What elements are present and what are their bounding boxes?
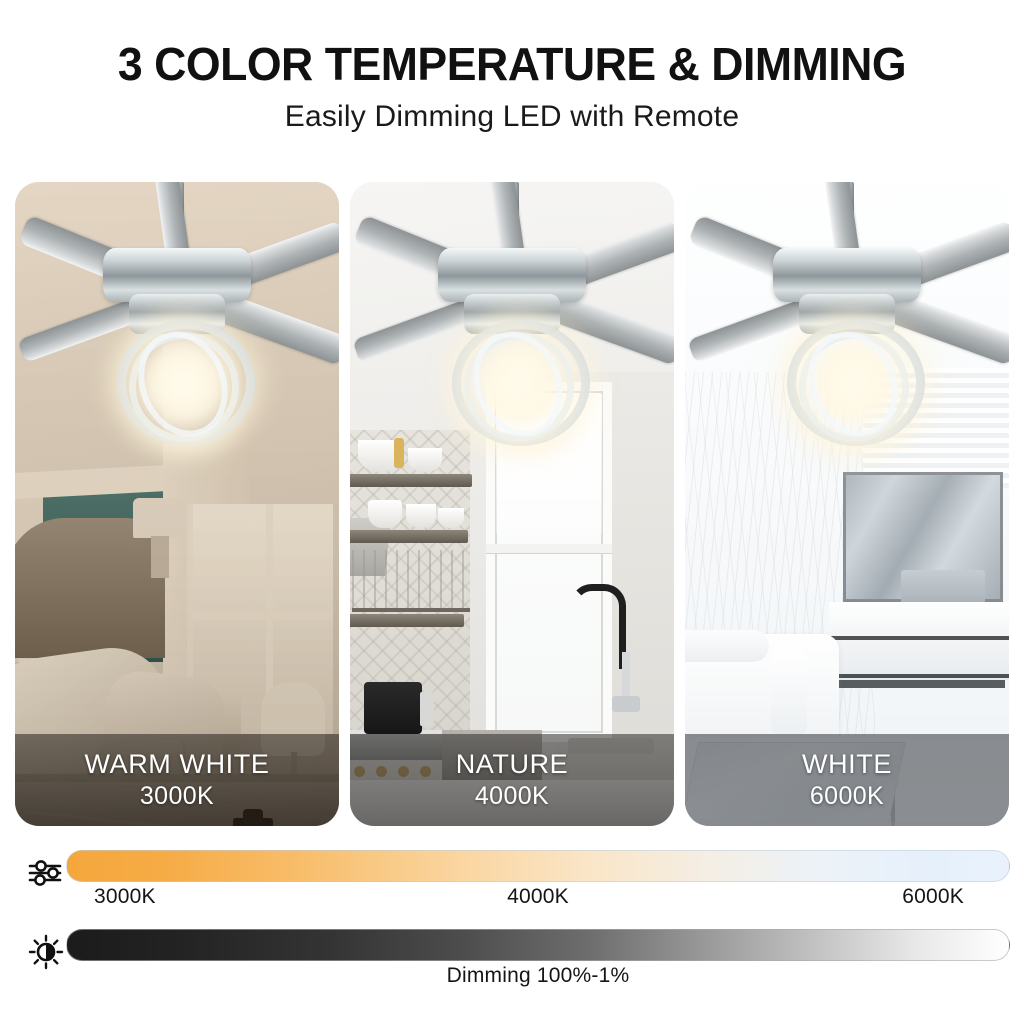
brightness-icon (26, 932, 66, 972)
label-name: WARM WHITE (85, 749, 270, 779)
ceiling-fan (685, 182, 1009, 442)
label-kelvin: 3000K (140, 781, 214, 811)
panel-label-nature: NATURE 4000K (350, 734, 674, 826)
label-name: NATURE (456, 749, 569, 779)
sliders-icon (26, 853, 66, 893)
tick-3000k: 3000K (94, 885, 156, 909)
tick-4000k: 4000K (507, 885, 569, 909)
color-temperature-bar[interactable] (66, 850, 1010, 882)
page-subtitle: Easily Dimming LED with Remote (0, 100, 1024, 134)
ceiling-fan (350, 182, 674, 442)
slider-section: 3000K 4000K 6000K (0, 850, 1024, 994)
dimming-label: Dimming 100%-1% (447, 964, 630, 988)
color-temperature-panels: WARM WHITE 3000K (15, 182, 1009, 826)
panel-warm-white[interactable]: WARM WHITE 3000K (15, 182, 339, 826)
label-kelvin: 6000K (810, 781, 884, 811)
header: 3 COLOR TEMPERATURE & DIMMING Easily Dim… (0, 0, 1024, 134)
dimming-bar[interactable] (66, 929, 1010, 961)
tick-6000k: 6000K (902, 885, 964, 909)
color-temperature-ticks: 3000K 4000K 6000K (66, 885, 1010, 915)
dimming-ticks: Dimming 100%-1% (66, 964, 1010, 994)
panel-nature[interactable]: NATURE 4000K (350, 182, 674, 826)
label-kelvin: 4000K (475, 781, 549, 811)
color-temperature-slider-row: 3000K 4000K 6000K (0, 850, 1024, 915)
panel-label-white: WHITE 6000K (685, 734, 1009, 826)
ceiling-fan (15, 182, 339, 442)
panel-label-warm-white: WARM WHITE 3000K (15, 734, 339, 826)
page-title: 3 COLOR TEMPERATURE & DIMMING (15, 40, 1008, 88)
label-name: WHITE (802, 749, 892, 779)
dimming-slider-row: Dimming 100%-1% (0, 929, 1024, 994)
panel-white[interactable]: WHITE 6000K (685, 182, 1009, 826)
